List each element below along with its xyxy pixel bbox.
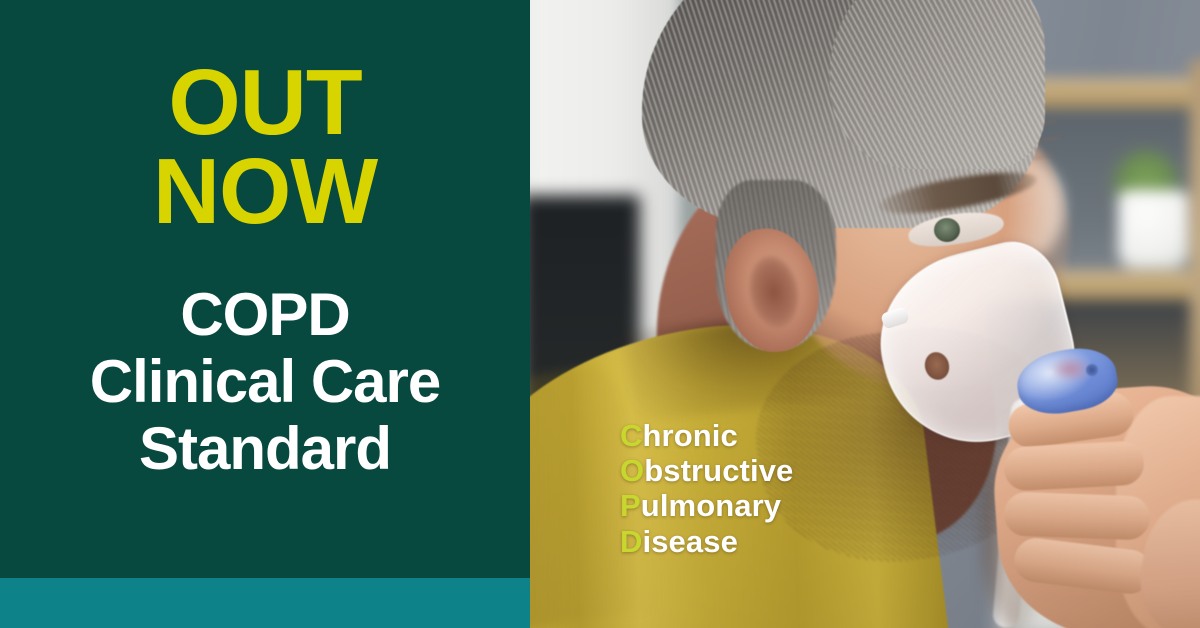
finger-middle (1003, 440, 1145, 491)
title-line-clinical-care: Clinical Care (90, 348, 441, 415)
acronym-line-obstructive: Obstructive (620, 453, 793, 488)
kicker-out-now: OUT NOW (153, 58, 377, 237)
acronym-rest-pulmonary: ulmonary (641, 488, 781, 523)
panel-content: OUT NOW COPD Clinical Care Standard (0, 0, 530, 578)
grey-hair-front (830, 0, 1045, 169)
promo-banner: Chronic Obstructive Pulmonary Disease OU… (0, 0, 1200, 628)
acronym-line-chronic: Chronic (620, 418, 793, 453)
acronym-rest-chronic: hronic (643, 418, 738, 453)
acronym-cap-c: C (620, 418, 643, 453)
title-line-copd: COPD (90, 281, 441, 348)
finger-ring (1003, 491, 1150, 540)
banner-title: COPD Clinical Care Standard (90, 281, 441, 483)
acronym-line-pulmonary: Pulmonary (620, 488, 793, 523)
kicker-line-now: NOW (153, 147, 377, 236)
bottom-teal-bar (0, 578, 530, 628)
acronym-cap-o: O (620, 453, 644, 488)
acronym-rest-obstructive: bstructive (644, 453, 793, 488)
iris (934, 218, 960, 242)
acronym-line-disease: Disease (620, 524, 793, 559)
nebuliser-valve-port (1086, 364, 1098, 376)
copd-acronym-overlay: Chronic Obstructive Pulmonary Disease (620, 418, 793, 559)
title-line-standard: Standard (90, 415, 441, 482)
acronym-cap-p: P (620, 488, 641, 523)
acronym-cap-d: D (620, 524, 643, 559)
acronym-rest-disease: isease (643, 524, 738, 559)
